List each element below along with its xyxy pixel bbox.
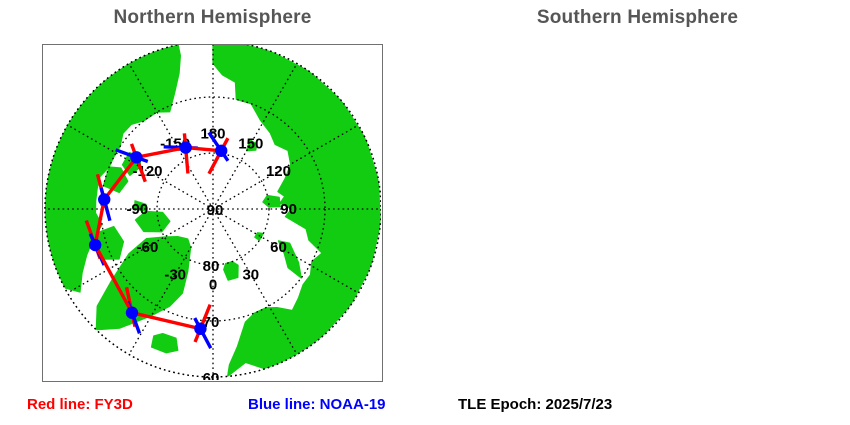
grid-label: -120 — [133, 163, 163, 180]
satellite-marker[interactable] — [89, 239, 101, 251]
grid-label: -30 — [164, 266, 186, 283]
polar-plot-north[interactable]: 908070600306090120150180-150-120-90-60-3… — [42, 44, 383, 382]
satellite-marker[interactable] — [179, 141, 191, 153]
panel-northern-hemisphere: Northern Hemisphere 90807060030609012015… — [0, 0, 425, 390]
grid-label: 150 — [238, 136, 263, 153]
legend-tle-epoch: TLE Epoch: 2025/7/23 — [458, 396, 612, 413]
legend-blue-line: Blue line: NOAA-19 — [248, 396, 386, 413]
grid-label: 60 — [270, 239, 287, 256]
satellite-marker[interactable] — [194, 323, 206, 335]
grid-label: -90 — [127, 201, 149, 218]
grid-label: 90 — [280, 201, 297, 218]
legend-red-line: Red line: FY3D — [27, 396, 133, 413]
grid-label: 90 — [207, 202, 224, 219]
satellite-marker[interactable] — [126, 307, 138, 319]
grid-label: 80 — [203, 258, 220, 275]
satellite-marker[interactable] — [215, 145, 227, 157]
polar-plot-north-svg: 908070600306090120150180-150-120-90-60-3… — [43, 45, 381, 380]
grid-label: 0 — [209, 277, 217, 294]
grid-label: -60 — [137, 239, 159, 256]
panel-title-south: Southern Hemisphere — [425, 7, 850, 29]
grid-label: 120 — [266, 163, 291, 180]
panel-title-north: Northern Hemisphere — [0, 7, 425, 29]
ground-track-figure: Northern Hemisphere 90807060030609012015… — [0, 0, 850, 425]
satellite-marker[interactable] — [98, 193, 110, 205]
panel-southern-hemisphere: Southern Hemisphere -90-80-70-6003060901… — [425, 0, 850, 390]
grid-label: 30 — [242, 266, 259, 283]
satellite-marker[interactable] — [130, 151, 142, 163]
grid-label: 60 — [203, 370, 220, 380]
